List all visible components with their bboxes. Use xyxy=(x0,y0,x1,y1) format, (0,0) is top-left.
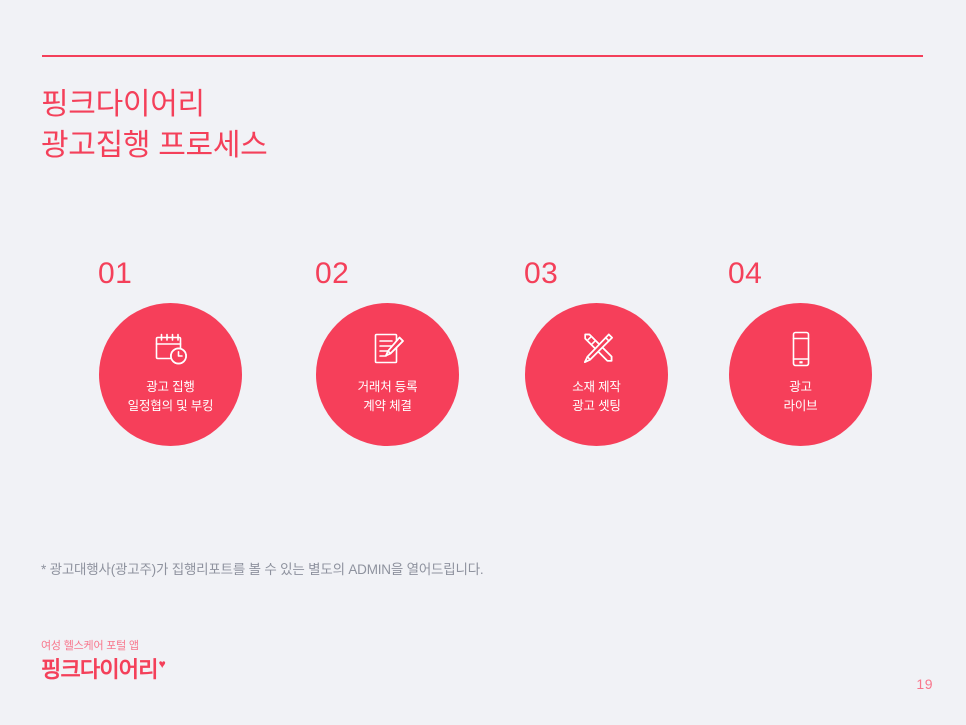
step-number: 03 xyxy=(524,258,558,290)
calendar-clock-icon xyxy=(151,329,191,369)
logo-tagline: 여성 헬스케어 포털 앱 xyxy=(41,639,166,653)
step-circle: 소재 제작 광고 셋팅 xyxy=(525,303,668,446)
brand-logo: 여성 헬스케어 포털 앱 핑크다이어리 ♥ xyxy=(41,639,166,684)
logo-name-row: 핑크다이어리 ♥ xyxy=(41,656,166,684)
header-divider xyxy=(42,55,923,57)
heart-icon: ♥ xyxy=(159,658,166,670)
step-label: 광고 라이브 xyxy=(784,378,818,416)
step-number: 02 xyxy=(315,258,349,290)
step-number: 04 xyxy=(728,258,762,290)
process-step-04: 04 광고 라이브 xyxy=(714,258,914,458)
step-circle: 광고 라이브 xyxy=(729,303,872,446)
pencil-ruler-cross-icon xyxy=(577,329,617,369)
process-step-02: 02 거래처 등록 계약 체결 xyxy=(301,258,501,458)
process-step-01: 01 광고 집행 일정협의 및 부킹 xyxy=(84,258,284,458)
page-number: 19 xyxy=(916,676,933,692)
logo-name: 핑크다이어리 xyxy=(41,656,158,684)
page-title: 핑크다이어리 광고집행 프로세스 xyxy=(41,84,267,166)
document-pencil-icon xyxy=(368,329,408,369)
slide-canvas: 핑크다이어리 광고집행 프로세스 01 xyxy=(0,0,966,725)
step-label: 거래처 등록 계약 체결 xyxy=(358,378,418,416)
step-number: 01 xyxy=(98,258,132,290)
step-label: 광고 집행 일정협의 및 부킹 xyxy=(128,378,214,416)
step-circle: 거래처 등록 계약 체결 xyxy=(316,303,459,446)
process-step-03: 03 소재 제작 광고 셋팅 xyxy=(510,258,710,458)
footnote-text: * 광고대행사(광고주)가 집행리포트를 볼 수 있는 별도의 ADMIN을 열… xyxy=(41,560,483,580)
smartphone-icon xyxy=(781,329,821,369)
step-label: 소재 제작 광고 셋팅 xyxy=(572,378,620,416)
process-steps: 01 광고 집행 일정협의 및 부킹 xyxy=(84,258,894,458)
step-circle: 광고 집행 일정협의 및 부킹 xyxy=(99,303,242,446)
